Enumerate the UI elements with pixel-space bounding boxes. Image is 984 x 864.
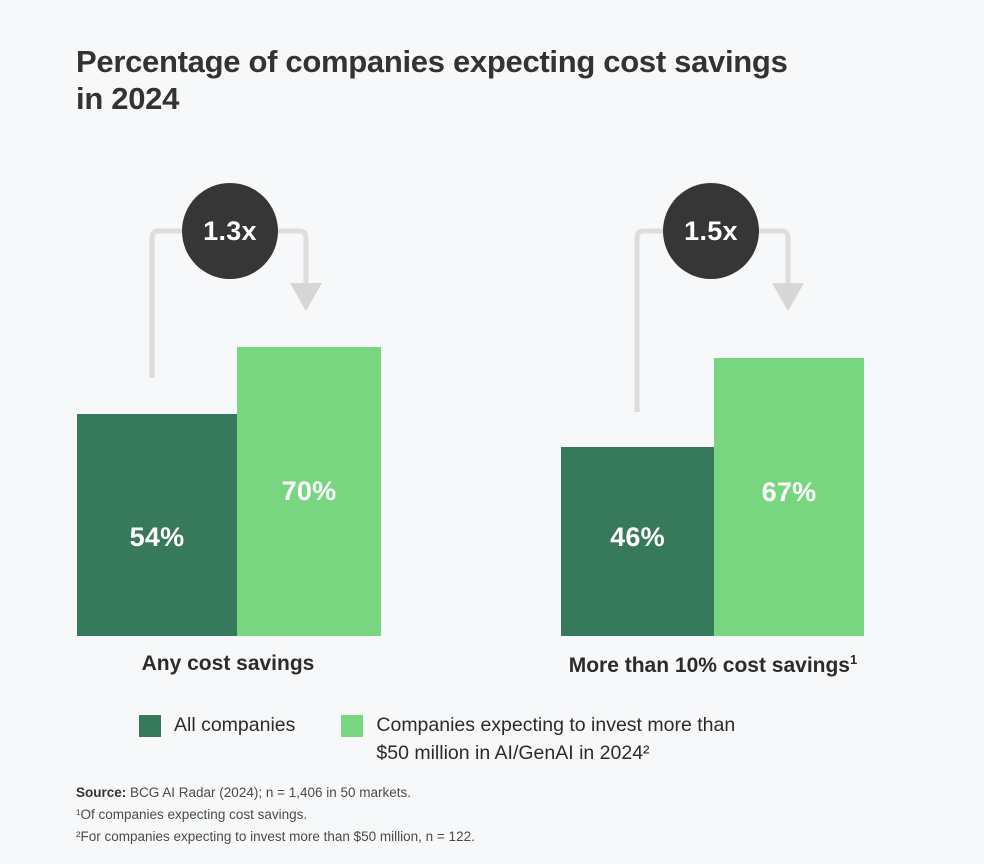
footnote-note-2: ²For companies expecting to invest more … (76, 826, 475, 848)
bar-group-1-high-investors: 70% (237, 347, 381, 636)
legend-item-label: All companies (174, 712, 295, 740)
category-label-footnote-marker: 1 (850, 652, 857, 667)
bar-value-label: 70% (237, 476, 381, 507)
bar-value-label: 54% (77, 522, 237, 553)
category-label-text: Any cost savings (142, 652, 315, 675)
footnote-source-label: Source: (76, 785, 126, 800)
bar-value-label: 46% (561, 522, 714, 553)
footnote-source-text: BCG AI Radar (2024); n = 1,406 in 50 mar… (126, 785, 411, 800)
chart-legend: All companies Companies expecting to inv… (139, 712, 735, 767)
bar-group-2-high-investors: 67% (714, 358, 864, 636)
legend-item-label: Companies expecting to invest more than … (376, 712, 735, 767)
bar-group-1-all-companies: 54% (77, 414, 237, 636)
footnotes: Source: BCG AI Radar (2024); n = 1,406 i… (76, 782, 475, 848)
footnote-note-1: ¹Of companies expecting cost savings. (76, 804, 475, 826)
category-label-group-2: More than 10% cost savings1 (522, 652, 904, 678)
legend-item-all-companies[interactable]: All companies (139, 712, 295, 740)
bar-group-2-all-companies: 46% (561, 447, 714, 636)
footnote-source: Source: BCG AI Radar (2024); n = 1,406 i… (76, 782, 475, 804)
legend-swatch-icon (341, 715, 363, 737)
legend-item-high-investors[interactable]: Companies expecting to invest more than … (341, 712, 735, 767)
legend-swatch-icon (139, 715, 161, 737)
chart-canvas: Percentage of companies expecting cost s… (0, 0, 984, 864)
bar-value-label: 67% (714, 477, 864, 508)
category-label-text: More than 10% cost savings (569, 654, 850, 677)
category-label-group-1: Any cost savings (37, 652, 419, 676)
